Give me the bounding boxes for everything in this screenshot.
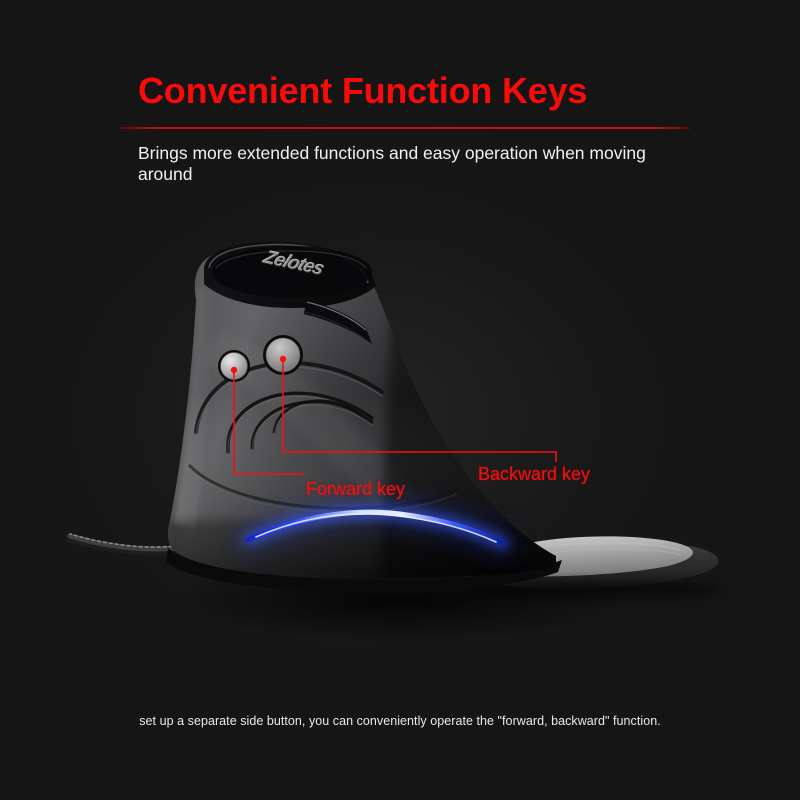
page-title: Convenient Function Keys [138,70,587,112]
brand-logo: Zelotes Zelotes [259,247,329,280]
mouse-base-lip [166,548,562,592]
product-image-vertical-mouse: Zelotes Zelotes [0,0,800,800]
callout-label-forward-key: Forward key [306,479,405,500]
palm-rest-pad [455,536,720,600]
page-subtitle: Brings more extended functions and easy … [138,143,658,185]
callout-label-backward-key: Backward key [478,464,590,485]
leader-line-forward [234,373,305,474]
led-strip [248,512,504,544]
title-divider [120,127,690,129]
product-feature-slide: Convenient Function Keys Brings more ext… [0,0,800,800]
side-button-backward[interactable] [263,335,303,375]
side-button-forward[interactable] [218,350,250,382]
callout-leader-lines [231,356,556,474]
svg-text:Zelotes: Zelotes [259,248,328,280]
product-floor-shadow [80,540,720,660]
mouse-body [166,242,560,582]
mouse-top-shell: Zelotes Zelotes [204,241,376,344]
usb-cable [70,534,190,551]
footer-caption: set up a separate side button, you can c… [0,714,800,728]
background-vignette [0,0,800,800]
svg-text:Zelotes: Zelotes [259,247,328,279]
leader-line-backward [283,362,556,462]
